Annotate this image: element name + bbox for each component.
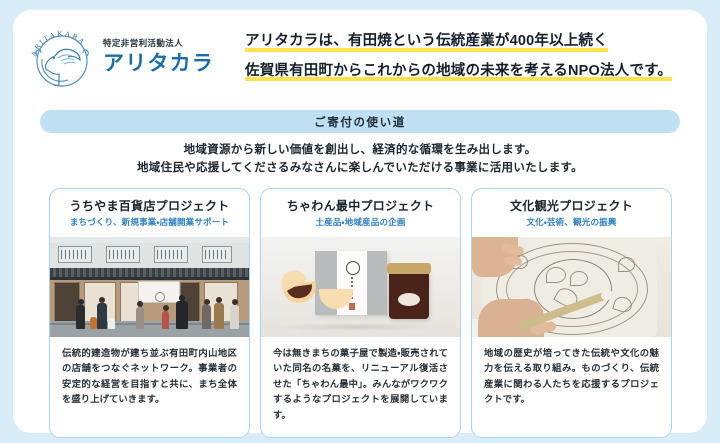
headline: アリタカラは、有田焼という伝統産業が400年以上続く 佐賀県有田町からこれからの… <box>245 32 695 81</box>
brand-lockup[interactable]: ARITAKARA 特定非営利活動法人 <box>25 22 235 94</box>
lead-line-1: 地域資源から新しい価値を創出し、経済的な循環を生み出します。 <box>13 141 707 159</box>
card-title: 文化観光プロジェクト <box>472 199 671 213</box>
svg-text:ARITAKARA: ARITAKARA <box>29 29 88 58</box>
card-subtitle: 文化・芸術、観光の振興 <box>472 217 671 227</box>
card-subtitle: 土産品・地域産品の企画 <box>261 217 460 227</box>
card-subtitle: まちづくり、新規事業・店舗開業サポート <box>50 217 249 227</box>
headline-line-2: 佐賀県有田町からこれからの地域の未来を考えるNPO法人です。 <box>245 62 672 82</box>
lead-paragraph: 地域資源から新しい価値を創出し、経済的な循環を生み出します。 地域住民や応援して… <box>13 141 707 178</box>
card-photo-porcelain-painting <box>472 237 671 337</box>
brand-name: アリタカラ <box>103 51 214 77</box>
card-body: 今は無きまちの菓子屋で製造・販売されていた同名の名菓を、リニューアル復活させた「… <box>261 337 460 434</box>
project-card-cultural-tourism[interactable]: 文化観光プロジェクト 文化・芸術、観光の振興 <box>471 188 672 438</box>
brand-kicker: 特定非営利活動法人 <box>103 39 214 48</box>
project-card-list: うちやま百貨店プロジェクト まちづくり、新規事業・店舗開業サポート <box>49 188 674 438</box>
card-title: うちやま百貨店プロジェクト <box>50 199 249 213</box>
project-card-uchiyama[interactable]: うちやま百貨店プロジェクト まちづくり、新規事業・店舗開業サポート <box>49 188 250 438</box>
section-banner-label: ご寄付の使い道 <box>314 114 406 130</box>
card-photo-monaka-product <box>261 237 460 337</box>
headline-line-1: アリタカラは、有田焼という伝統産業が400年以上続く <box>245 32 608 52</box>
page-panel: ARITAKARA 特定非営利活動法人 <box>13 10 707 433</box>
aritakara-crane-emblem-icon: ARITAKARA <box>25 23 99 93</box>
card-body: 地域の歴史が培ってきた伝統や文化の魅力を伝える取り組み。ものづくり、伝統産業に関… <box>472 337 671 418</box>
project-card-chawan-monaka[interactable]: ちゃわん最中プロジェクト 土産品・地域産品の企画 今は無きまちの菓子屋で製造 <box>260 188 461 438</box>
card-title: ちゃわん最中プロジェクト <box>261 199 460 213</box>
lead-line-2: 地域住民や応援してくださるみなさんに楽しんでいただける事業に活用いたします。 <box>13 159 707 177</box>
site-header: ARITAKARA 特定非営利活動法人 <box>13 10 707 102</box>
card-photo-machiya-storefront <box>50 237 249 337</box>
section-banner: ご寄付の使い道 <box>40 110 680 133</box>
card-body: 伝統的建造物が建ち並ぶ有田町内山地区の店舗をつなぐネットワーク。事業者の安定的な… <box>50 337 249 418</box>
brand-text: 特定非営利活動法人 アリタカラ <box>103 39 214 78</box>
